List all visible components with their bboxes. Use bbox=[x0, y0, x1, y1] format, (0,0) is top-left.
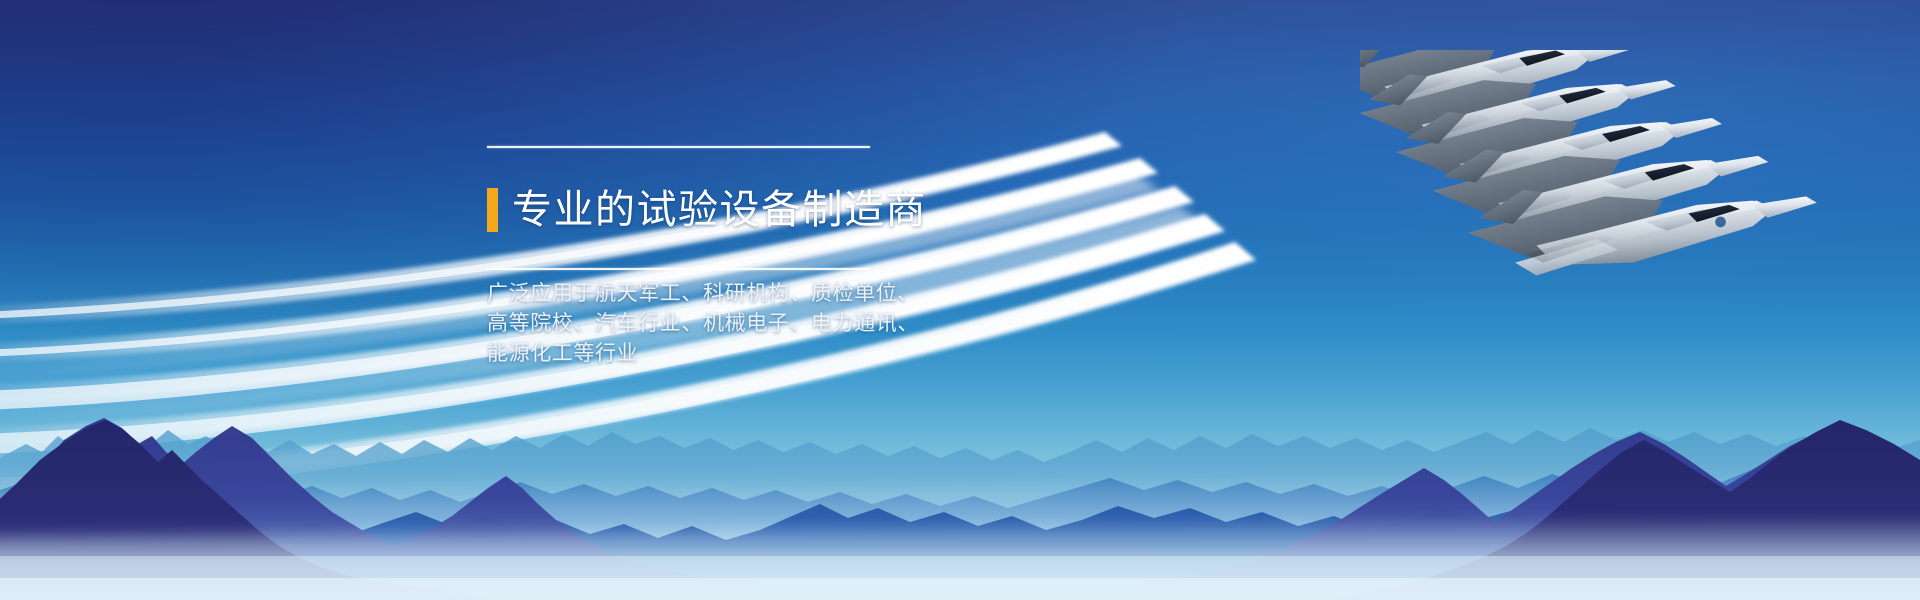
divider-line-bottom bbox=[487, 268, 870, 270]
subtitle-text: 广泛应用于航天军工、科研机构、质检单位、 高等院校、汽车行业、机械电子、电力通讯… bbox=[487, 279, 927, 369]
subtitle-line-3: 能源化工等行业 bbox=[487, 339, 927, 369]
subtitle-line-2: 高等院校、汽车行业、机械电子、电力通讯、 bbox=[487, 309, 927, 339]
mountain-range-silhouette bbox=[0, 340, 1920, 600]
divider-line-top bbox=[487, 146, 870, 148]
orange-accent-bar bbox=[487, 188, 498, 232]
page-title: 专业的试验设备制造商 bbox=[512, 188, 927, 232]
hero-copy-block: 专业的试验设备制造商 广泛应用于航天军工、科研机构、质检单位、 高等院校、汽车行… bbox=[487, 146, 927, 390]
headline-row: 专业的试验设备制造商 bbox=[487, 161, 927, 259]
fighter-jet-formation-icon bbox=[1360, 50, 1880, 340]
hero-banner: 专业的试验设备制造商 广泛应用于航天军工、科研机构、质检单位、 高等院校、汽车行… bbox=[0, 0, 1920, 600]
subtitle-line-1: 广泛应用于航天军工、科研机构、质检单位、 bbox=[487, 279, 927, 309]
